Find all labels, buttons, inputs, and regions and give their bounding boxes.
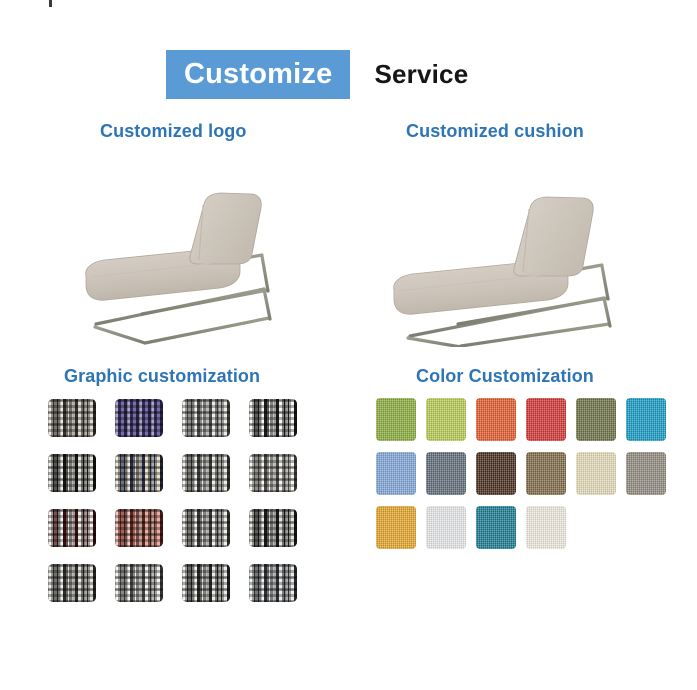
page-header: Customize Service <box>166 50 468 99</box>
weave-block-lines <box>48 564 96 602</box>
color-swatch-light-lime[interactable] <box>426 398 466 441</box>
section-title-graphic-customization: Graphic customization <box>64 366 260 387</box>
weave-texture <box>249 399 297 437</box>
weave-block-lines <box>249 454 297 492</box>
graphic-swatch-silver-grey-weave[interactable] <box>182 454 230 492</box>
weave-block-lines <box>115 509 163 547</box>
graphic-swatch-grey-beige-weave[interactable] <box>48 399 96 437</box>
weave-texture <box>182 509 230 547</box>
weave-texture <box>249 509 297 547</box>
color-swatch-golden-amber[interactable] <box>376 506 416 549</box>
graphic-swatch-charcoal-weave[interactable] <box>48 454 96 492</box>
section-title-color-customization: Color Customization <box>416 366 594 387</box>
graphic-swatch-blue-grey-weave[interactable] <box>249 564 297 602</box>
graphic-swatch-dark-grey-weave[interactable] <box>249 509 297 547</box>
graphic-swatch-purple-blue-weave[interactable] <box>115 399 163 437</box>
customize-service-page: Customize Service Customized logo Custom… <box>0 0 697 690</box>
weave-block-lines <box>115 454 163 492</box>
canvas-texture <box>626 452 666 495</box>
weave-block-lines <box>182 399 230 437</box>
canvas-texture <box>376 452 416 495</box>
weave-block-lines <box>115 564 163 602</box>
weave-texture <box>182 399 230 437</box>
canvas-texture <box>626 398 666 441</box>
weave-block-lines <box>249 564 297 602</box>
canvas-texture <box>526 398 566 441</box>
canvas-texture <box>426 398 466 441</box>
canvas-texture <box>526 452 566 495</box>
weave-block-lines <box>48 454 96 492</box>
color-swatch-orange[interactable] <box>476 398 516 441</box>
graphic-swatch-khaki-navy-weave[interactable] <box>115 454 163 492</box>
weave-texture <box>48 564 96 602</box>
canvas-texture <box>576 452 616 495</box>
color-swatch-olive-green[interactable] <box>376 398 416 441</box>
image-artifact-speck <box>49 0 52 7</box>
weave-texture <box>115 454 163 492</box>
canvas-texture <box>376 398 416 441</box>
color-swatch-teal[interactable] <box>476 506 516 549</box>
graphic-swatch-grid <box>48 399 297 602</box>
graphic-swatch-grey-mix-weave[interactable] <box>182 509 230 547</box>
weave-texture <box>48 509 96 547</box>
color-swatch-khaki-brown[interactable] <box>526 452 566 495</box>
canvas-texture <box>426 506 466 549</box>
weave-block-lines <box>48 509 96 547</box>
product-photo-customized-cushion <box>372 172 657 347</box>
graphic-swatch-maroon-white-weave[interactable] <box>48 509 96 547</box>
weave-texture <box>115 564 163 602</box>
weave-texture <box>48 454 96 492</box>
weave-block-lines <box>249 509 297 547</box>
header-word-service: Service <box>374 59 468 90</box>
graphic-swatch-pale-silver-weave[interactable] <box>115 564 163 602</box>
canvas-texture <box>526 506 566 549</box>
weave-texture <box>115 399 163 437</box>
canvas-texture <box>376 506 416 549</box>
canvas-texture <box>576 398 616 441</box>
product-photo-customized-logo <box>62 172 347 347</box>
color-swatch-dark-brown[interactable] <box>476 452 516 495</box>
weave-block-lines <box>182 564 230 602</box>
color-swatch-dark-olive[interactable] <box>576 398 616 441</box>
weave-block-lines <box>115 399 163 437</box>
weave-texture <box>115 509 163 547</box>
canvas-texture <box>426 452 466 495</box>
section-title-customized-logo: Customized logo <box>100 121 247 142</box>
weave-texture <box>182 454 230 492</box>
graphic-swatch-black-white-weave[interactable] <box>249 399 297 437</box>
color-swatch-cream-beige[interactable] <box>576 452 616 495</box>
color-swatch-taupe-grey[interactable] <box>626 452 666 495</box>
color-swatch-slate-grey[interactable] <box>426 452 466 495</box>
color-swatch-cyan-blue[interactable] <box>626 398 666 441</box>
canvas-texture <box>476 452 516 495</box>
graphic-swatch-steel-grey-weave[interactable] <box>48 564 96 602</box>
canvas-texture <box>476 398 516 441</box>
color-swatch-light-blue[interactable] <box>376 452 416 495</box>
section-title-customized-cushion: Customized cushion <box>406 121 584 142</box>
weave-texture <box>182 564 230 602</box>
color-swatch-red[interactable] <box>526 398 566 441</box>
color-swatch-white-grey[interactable] <box>426 506 466 549</box>
graphic-swatch-speckled-grey-weave[interactable] <box>182 564 230 602</box>
weave-block-lines <box>182 509 230 547</box>
canvas-texture <box>476 506 516 549</box>
graphic-swatch-light-grey-weave[interactable] <box>182 399 230 437</box>
weave-texture <box>48 399 96 437</box>
graphic-swatch-white-grey-weave[interactable] <box>249 454 297 492</box>
graphic-swatch-terracotta-weave[interactable] <box>115 509 163 547</box>
color-swatch-ivory[interactable] <box>526 506 566 549</box>
weave-block-lines <box>182 454 230 492</box>
header-badge-customize: Customize <box>166 50 350 99</box>
weave-block-lines <box>249 399 297 437</box>
weave-texture <box>249 454 297 492</box>
weave-block-lines <box>48 399 96 437</box>
color-swatch-grid <box>376 398 666 549</box>
weave-texture <box>249 564 297 602</box>
